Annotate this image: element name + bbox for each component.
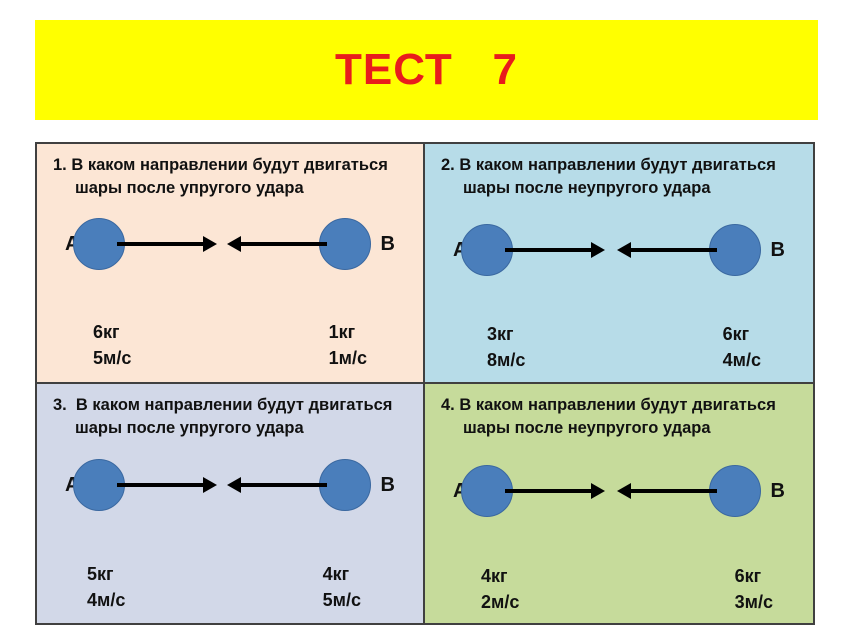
arrow-left-icon [617, 240, 709, 260]
right-body-values: 6кг 3м/с [735, 563, 773, 615]
body-label-b: B [381, 234, 395, 254]
ball-row: A B [37, 452, 423, 518]
left-body-group: A [453, 458, 605, 524]
right-body-values: 1кг 1м/с [329, 319, 367, 371]
arrow-shaft [629, 489, 717, 493]
question-cell-4[interactable]: 4. В каком направлении будут двигаться ш… [425, 384, 813, 624]
arrow-right-icon [125, 475, 217, 495]
arrow-shaft [629, 248, 717, 252]
mass-value: 6кг [735, 563, 773, 589]
arrow-shaft [239, 483, 327, 487]
left-body-group: A [65, 452, 217, 518]
question-cell-2[interactable]: 2. В каком направлении будут двигаться ш… [425, 144, 813, 384]
collision-diagram: A B [37, 203, 423, 378]
arrow-head [227, 236, 241, 252]
title-banner: ТЕСТ 7 [35, 20, 818, 120]
right-body-group: B [227, 452, 395, 518]
speed-value: 4м/с [87, 587, 125, 613]
left-body-values: 5кг 4м/с [87, 561, 125, 613]
mass-value: 4кг [323, 561, 361, 587]
arrow-left-icon [617, 481, 709, 501]
speed-value: 8м/с [487, 347, 525, 373]
question-prompt: 2. В каком направлении будут двигаться ш… [435, 154, 803, 201]
arrow-left-icon [227, 234, 319, 254]
left-body-values: 4кг 2м/с [481, 563, 519, 615]
mass-value: 1кг [329, 319, 367, 345]
arrow-right-icon [513, 240, 605, 260]
right-body-group: B [617, 217, 785, 283]
question-prompt: 1. В каком направлении будут двигаться ш… [47, 154, 413, 201]
arrow-head [591, 242, 605, 258]
left-body-group: A [65, 211, 217, 277]
arrow-head [203, 477, 217, 493]
arrow-shaft [117, 483, 205, 487]
right-body-group: B [617, 458, 785, 524]
right-body-group: B [227, 211, 395, 277]
collision-diagram: A B [425, 444, 813, 619]
right-body-values: 6кг 4м/с [723, 321, 761, 373]
left-body-group: A [453, 217, 605, 283]
arrow-head [591, 483, 605, 499]
mass-value: 6кг [93, 319, 131, 345]
question-prompt: 4. В каком направлении будут двигаться ш… [435, 394, 803, 441]
body-label-b: B [771, 481, 785, 501]
arrow-head [617, 242, 631, 258]
mass-value: 4кг [481, 563, 519, 589]
arrow-shaft [505, 489, 593, 493]
speed-value: 5м/с [323, 587, 361, 613]
arrow-right-icon [125, 234, 217, 254]
collision-diagram: A B [37, 444, 423, 619]
ball-row: A B [425, 458, 813, 524]
speed-value: 5м/с [93, 345, 131, 371]
left-body-values: 6кг 5м/с [93, 319, 131, 371]
question-cell-1[interactable]: 1. В каком направлении будут двигаться ш… [37, 144, 425, 384]
mass-value: 3кг [487, 321, 525, 347]
arrow-head [203, 236, 217, 252]
arrow-shaft [505, 248, 593, 252]
arrow-shaft [239, 242, 327, 246]
slide-canvas: ТЕСТ 7 1. В каком направлении будут двиг… [0, 0, 847, 640]
page-title: ТЕСТ 7 [335, 48, 518, 92]
ball-row: A B [37, 211, 423, 277]
question-cell-3[interactable]: 3. В каком направлении будут двигаться ш… [37, 384, 425, 624]
arrow-head [617, 483, 631, 499]
speed-value: 2м/с [481, 589, 519, 615]
speed-value: 4м/с [723, 347, 761, 373]
mass-value: 6кг [723, 321, 761, 347]
speed-value: 3м/с [735, 589, 773, 615]
body-label-b: B [381, 475, 395, 495]
arrow-shaft [117, 242, 205, 246]
arrow-left-icon [227, 475, 319, 495]
mass-value: 5кг [87, 561, 125, 587]
left-body-values: 3кг 8м/с [487, 321, 525, 373]
ball-row: A B [425, 217, 813, 283]
collision-diagram: A B [425, 203, 813, 378]
body-label-b: B [771, 240, 785, 260]
question-prompt: 3. В каком направлении будут двигаться ш… [47, 394, 413, 441]
right-body-values: 4кг 5м/с [323, 561, 361, 613]
speed-value: 1м/с [329, 345, 367, 371]
arrow-right-icon [513, 481, 605, 501]
question-grid: 1. В каком направлении будут двигаться ш… [35, 142, 815, 625]
arrow-head [227, 477, 241, 493]
